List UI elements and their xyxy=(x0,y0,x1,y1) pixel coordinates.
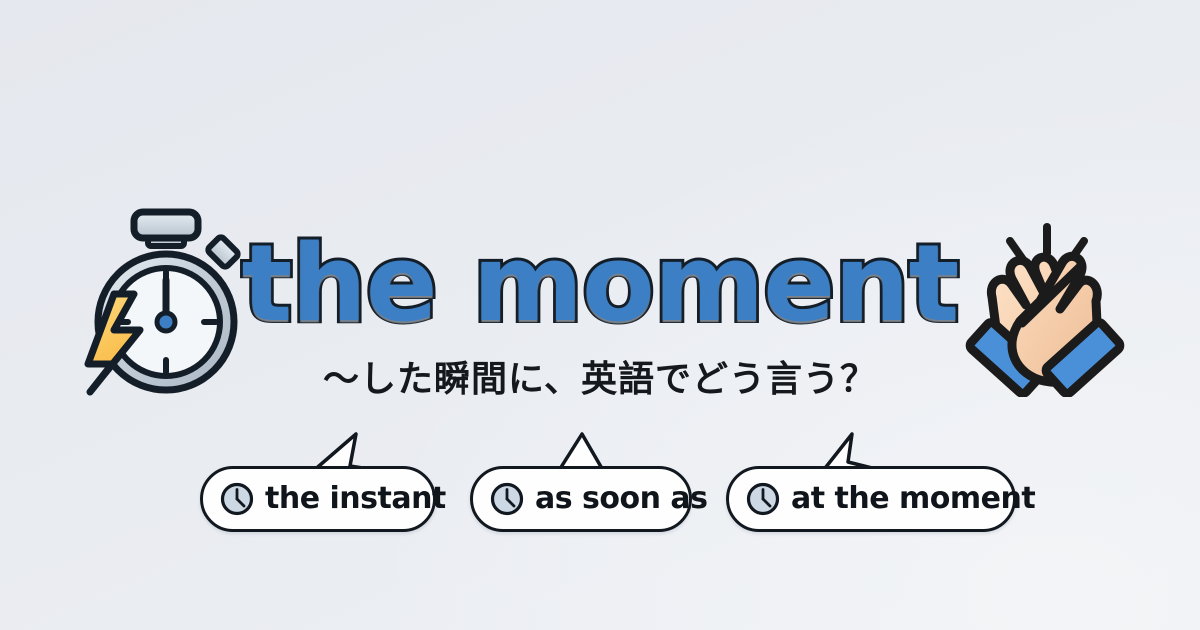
bubble-label: at the moment xyxy=(791,484,1035,514)
clock-icon xyxy=(745,481,781,517)
clapping-hands-icon xyxy=(948,205,1140,397)
speech-bubble-group: the instant as soon as at the moment xyxy=(0,432,1200,552)
stopwatch-pivot xyxy=(157,313,175,331)
page-title: the moment xyxy=(242,231,959,337)
clock-icon xyxy=(219,481,255,517)
speech-bubble-as-soon-as[interactable]: as soon as xyxy=(470,466,692,532)
speech-bubble-at-the-moment[interactable]: at the moment xyxy=(726,466,1016,532)
stopwatch-side-knob xyxy=(207,236,240,269)
bubble-label: as soon as xyxy=(535,484,708,514)
stopwatch-crown xyxy=(134,212,198,246)
speech-bubble-the-instant[interactable]: the instant xyxy=(200,466,436,532)
bubble-label: the instant xyxy=(265,484,446,514)
clock-icon xyxy=(489,481,525,517)
poster-canvas: the moment 〜した瞬間に、英語でどう言う？ xyxy=(0,0,1200,630)
page-subtitle: 〜した瞬間に、英語でどう言う？ xyxy=(323,359,877,400)
